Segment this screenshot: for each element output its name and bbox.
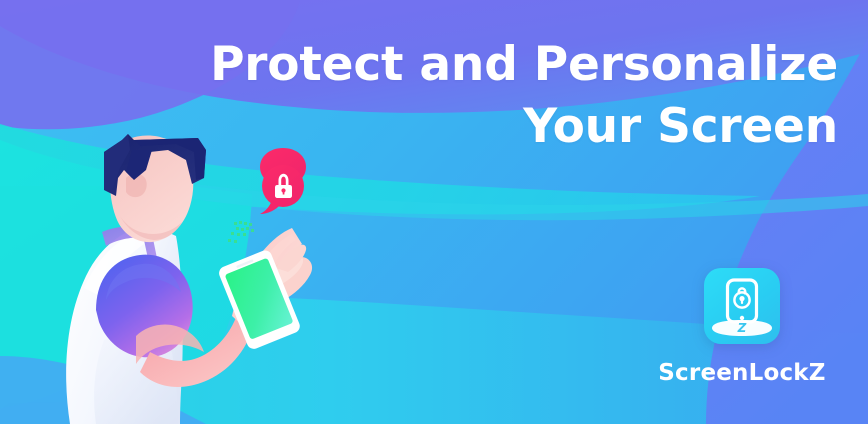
headline-line-1: Protect and Personalize [0, 34, 838, 96]
headline-line-2: Your Screen [0, 96, 838, 158]
screenlockz-app-icon[interactable]: Z [704, 268, 780, 344]
headline: Protect and Personalize Your Screen [0, 34, 838, 158]
brand-block: Z ScreenLockZ [652, 268, 832, 386]
promo-banner: Protect and Personalize Your Screen [0, 0, 868, 424]
sparkle-dots [228, 221, 254, 243]
brand-name: ScreenLockZ [658, 360, 825, 386]
icon-badge-letter: Z [737, 321, 747, 335]
